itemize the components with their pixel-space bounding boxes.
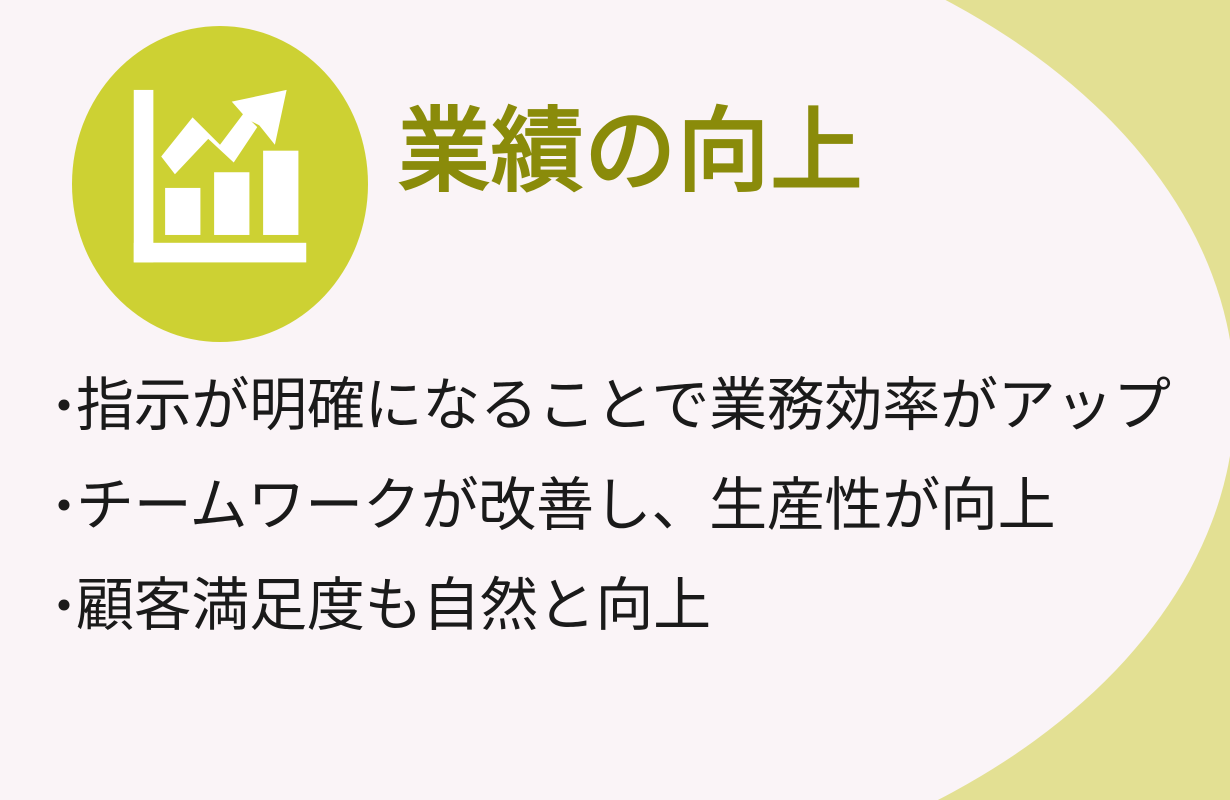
- list-item-label: 指示が明確になることで業務効率がアップ: [76, 376, 1171, 434]
- bullet-marker-icon: ・: [38, 382, 76, 434]
- page-title: 業績の向上: [398, 104, 864, 202]
- slide-header: 業績の向上: [0, 0, 1230, 360]
- bullet-marker-icon: ・: [38, 482, 76, 534]
- bullet-marker-icon: ・: [38, 582, 76, 634]
- list-item-label: 顧客満足度も自然と向上: [76, 576, 711, 634]
- list-item: ・ 指示が明確になることで業務効率がアップ: [0, 376, 1230, 476]
- slide-canvas: 業績の向上 ・ 指示が明確になることで業務効率がアップ ・ チームワークが改善し…: [0, 0, 1230, 800]
- list-item-label: チームワークが改善し、生産性が向上: [76, 476, 1055, 534]
- list-item: ・ 顧客満足度も自然と向上: [0, 576, 1230, 676]
- benefits-list: ・ 指示が明確になることで業務効率がアップ ・ チームワークが改善し、生産性が向…: [0, 376, 1230, 676]
- bar-chart-growth-icon: [72, 26, 368, 342]
- list-item: ・ チームワークが改善し、生産性が向上: [0, 476, 1230, 576]
